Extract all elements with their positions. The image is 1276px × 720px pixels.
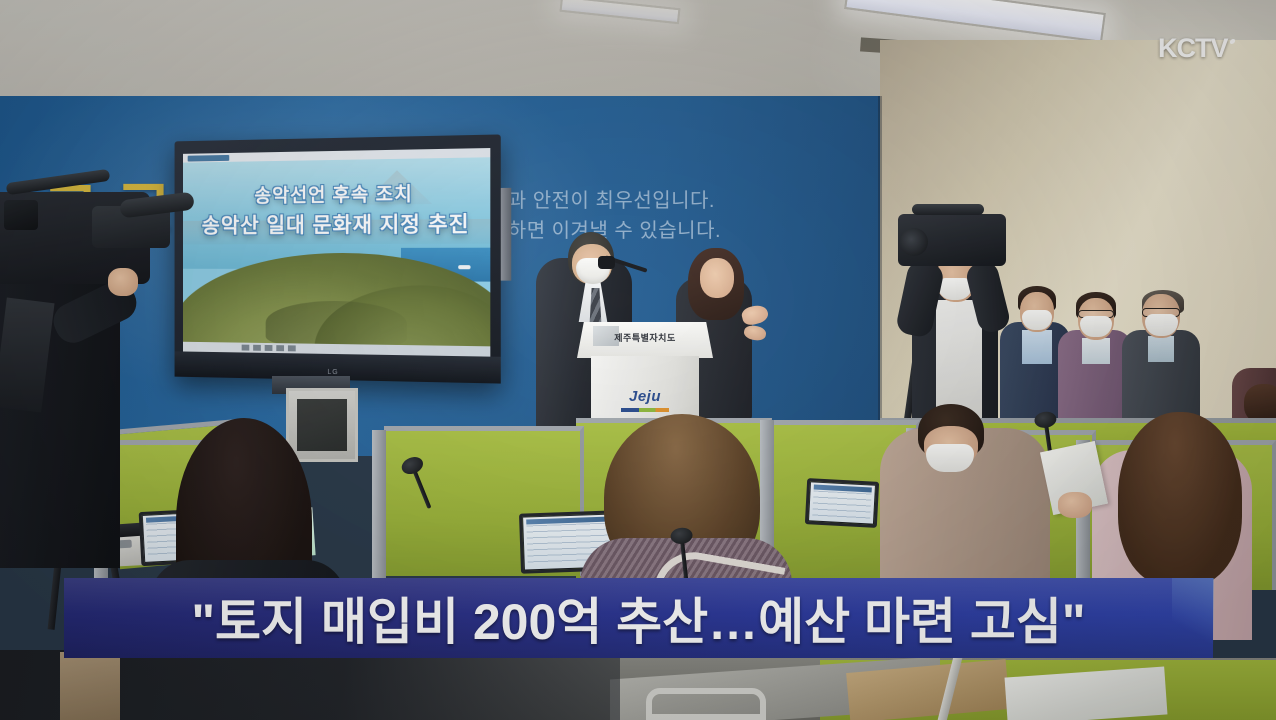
podium-organization-label: 제주특별자치도: [577, 331, 713, 344]
presentation-display[interactable]: 송악선언 후속 조치 송악산 일대 문화재 지정 추진 LG: [175, 134, 501, 383]
podium-brand-logo: Jeju: [591, 388, 699, 405]
display-side-panel: [501, 188, 511, 281]
lower-third-caption-bar: "토지 매입비 200억 추산…예산 마련 고심": [64, 578, 1213, 658]
caption-headline: "토지 매입비 200억 추산…예산 마련 고심": [64, 578, 1213, 658]
reporter-4-hand: [1058, 492, 1092, 518]
bottom-chair-back: [646, 688, 766, 720]
attendee-2-face-mask: [1080, 316, 1112, 337]
taskbar-item: [253, 345, 261, 351]
attendee-2-shirt: [1082, 338, 1110, 364]
laptop-right-screen[interactable]: [809, 482, 875, 523]
taskbar-item: [242, 345, 250, 351]
display-screen: 송악선언 후속 조치 송악산 일대 문화재 지정 추진: [183, 148, 490, 357]
taskbar-item: [288, 345, 296, 351]
podium-brand-logo-bar: [621, 408, 669, 412]
right-cameraman-shirt: [936, 300, 982, 420]
left-camera-viewfinder: [4, 200, 38, 230]
laptop-right[interactable]: [805, 478, 879, 528]
right-camera-handle: [912, 204, 984, 215]
wall-slogan: 생명과 안전이 최우선입니다. 함께하면 이겨낼 수 있습니다.: [470, 186, 800, 246]
reporter-3-face-mask: [926, 444, 974, 472]
left-cameraman-hand: [108, 268, 138, 296]
attendee-1-shirt: [1022, 330, 1052, 364]
slide-title-line-2: 송악산 일대 문화재 지정 추진: [183, 210, 490, 240]
slide-title: 송악선언 후속 조치 송악산 일대 문화재 지정 추진: [183, 181, 490, 239]
slide-boat: [459, 265, 471, 269]
right-camera-lens-icon: [900, 228, 928, 256]
wall-slogan-line-2: 함께하면 이겨낼 수 있습니다.: [470, 216, 800, 246]
attendee-3-shirt: [1148, 336, 1174, 362]
slide-title-line-1: 송악선언 후속 조치: [183, 181, 490, 210]
wall-slogan-line-1: 생명과 안전이 최우선입니다.: [470, 186, 800, 216]
channel-logo-bug: KCTV: [1158, 33, 1235, 64]
channel-logo-accent-icon: [1229, 39, 1236, 44]
slide-taskbar-items: [242, 345, 296, 352]
channel-logo-text: KCTV: [1158, 33, 1228, 64]
interpreter-face: [700, 258, 734, 298]
laptop-right-content-rows: [812, 490, 871, 520]
broadcast-frame: 코로 생명과 안전이 최우선입니다. 함께하면 이겨낼 수 있습니다. 송악선언…: [0, 0, 1276, 720]
taskbar-item: [265, 345, 273, 351]
bottom-wood-cabinet: [60, 652, 120, 720]
podium-microphone-head-icon: [598, 256, 615, 269]
av-cabinet: [286, 388, 358, 462]
reporter-4-hair: [1118, 412, 1242, 586]
slide-ridge-shadow: [266, 301, 407, 347]
taskbar-item: [276, 345, 284, 351]
slide-app-tab: [188, 154, 230, 161]
